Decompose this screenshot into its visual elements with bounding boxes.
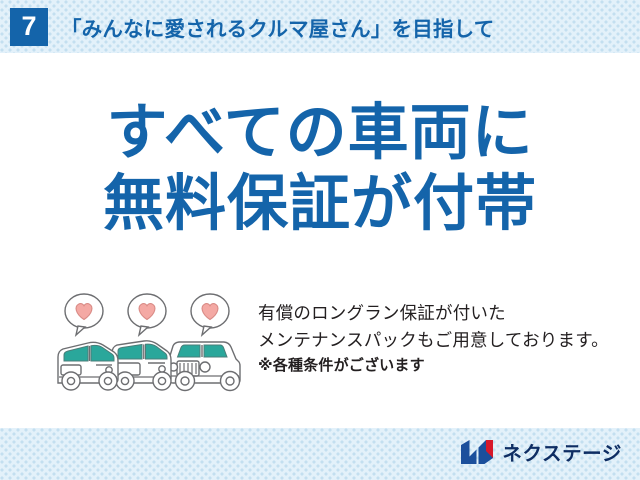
description-note: ※各種条件がございます xyxy=(258,354,630,377)
content-card: すべての車両に 無料保証が付帯 xyxy=(0,53,640,428)
heart-bubble-1 xyxy=(65,294,103,335)
header-title: 「みんなに愛されるクルマ屋さん」を目指して xyxy=(61,12,494,42)
poster-root: 7 「みんなに愛されるクルマ屋さん」を目指して すべての車両に 無料保証が付帯 xyxy=(0,0,640,480)
heart-bubble-3 xyxy=(191,294,229,335)
car-kei-wagon xyxy=(58,342,118,390)
headline-line-1: すべての車両に xyxy=(0,98,640,169)
description-line-2: メンテナンスパックもご用意しております。 xyxy=(258,328,630,355)
header-band: 7 「みんなに愛されるクルマ屋さん」を目指して xyxy=(0,0,640,53)
headline-block: すべての車両に 無料保証が付帯 xyxy=(0,98,640,240)
section-number-badge: 7 xyxy=(10,8,48,46)
car-suv xyxy=(169,342,240,391)
header-content: 7 「みんなに愛されるクルマ屋さん」を目指して xyxy=(0,0,640,53)
detail-row: 有償のロングラン保証が付いた メンテナンスパックもご用意しております。 ※各種条… xyxy=(0,291,640,411)
car-minivan xyxy=(112,341,171,390)
headline-line-2: 無料保証が付帯 xyxy=(0,169,640,240)
heart-bubble-2 xyxy=(128,294,166,335)
description-block: 有償のロングラン保証が付いた メンテナンスパックもご用意しております。 ※各種条… xyxy=(258,301,630,377)
description-line-1: 有償のロングラン保証が付いた xyxy=(258,301,630,328)
cars-illustration xyxy=(52,291,252,401)
brand-name: ネクステージ xyxy=(502,437,622,466)
footer-band: ネクステージ xyxy=(0,428,640,480)
brand-lockup: ネクステージ xyxy=(460,437,622,466)
nextage-logo-icon xyxy=(460,439,494,465)
